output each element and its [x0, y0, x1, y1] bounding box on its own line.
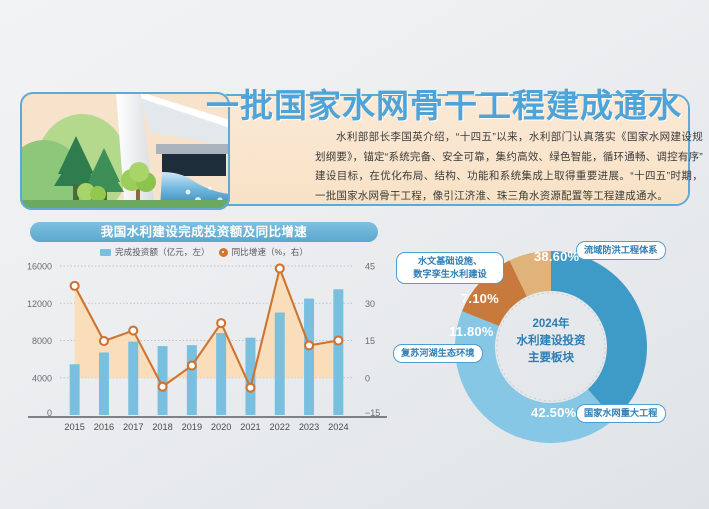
svg-text:0: 0 — [47, 408, 52, 418]
x-tick-2019: 2019 — [182, 422, 202, 432]
point-2017 — [129, 327, 137, 335]
donut-label-national-water-network[interactable]: 国家水网重大工程 — [576, 404, 666, 423]
svg-text:12000: 12000 — [27, 299, 52, 309]
legend-square-icon — [100, 249, 111, 256]
point-2019 — [188, 362, 196, 370]
svg-text:4000: 4000 — [32, 373, 52, 383]
legend-circle-icon — [219, 248, 228, 257]
x-tick-2017: 2017 — [123, 422, 143, 432]
investment-combo-chart: 我国水利建设完成投资额及同比增速 完成投资额（亿元，左） 同比增速（%，右） 0… — [8, 218, 393, 443]
bar-2016 — [99, 352, 109, 415]
donut-label-river-lake-ecology[interactable]: 复苏河湖生态环境 — [393, 344, 483, 363]
point-2018 — [159, 383, 167, 391]
svg-text:0: 0 — [365, 373, 370, 383]
point-2023 — [305, 341, 313, 349]
bar-2020 — [216, 333, 226, 415]
point-2015 — [71, 282, 79, 290]
point-2016 — [100, 337, 108, 345]
x-tick-2018: 2018 — [152, 422, 172, 432]
infographic-root: 一批国家水网骨干工程建成通水 水利部部长李国英介绍，“十四五”以来，水利部门认真… — [0, 0, 709, 509]
bar-2024 — [333, 289, 343, 415]
donut-center-label: 2024年 水利建设投资 主要板块 — [498, 288, 604, 394]
donut-pct-national-water-network: 42.50% — [531, 405, 576, 420]
legend-item-line: 同比增速（%，右） — [219, 246, 308, 258]
legend-item-bars: 完成投资额（亿元，左） — [100, 246, 210, 258]
svg-text:16000: 16000 — [27, 262, 52, 272]
svg-text:−15: −15 — [365, 408, 380, 418]
x-tick-2023: 2023 — [299, 422, 319, 432]
chart-plot-area: 0400080001200016000−15015304520152016201… — [8, 258, 393, 443]
donut-center-line-2: 水利建设投资 — [517, 333, 586, 350]
donut-pct-river-lake-ecology: 11.80% — [449, 324, 494, 339]
point-2021 — [246, 384, 254, 392]
donut-label-flood-control[interactable]: 流域防洪工程体系 — [576, 241, 666, 260]
bar-2017 — [128, 342, 138, 415]
chart-title: 我国水利建设完成投资额及同比增速 — [30, 222, 378, 242]
svg-text:30: 30 — [365, 299, 375, 309]
donut-center-line-1: 2024年 — [532, 316, 569, 333]
point-2022 — [276, 264, 284, 272]
hero-section: 一批国家水网骨干工程建成通水 水利部部长李国英介绍，“十四五”以来，水利部门认真… — [20, 92, 690, 214]
svg-text:8000: 8000 — [32, 336, 52, 346]
chart-svg: 0400080001200016000−15015304520152016201… — [8, 258, 393, 443]
x-tick-2020: 2020 — [211, 422, 231, 432]
point-2020 — [217, 319, 225, 327]
x-tick-2022: 2022 — [270, 422, 290, 432]
point-2024 — [334, 337, 342, 345]
svg-text:15: 15 — [365, 336, 375, 346]
legend-label-bars: 完成投资额（亿元，左） — [115, 246, 210, 258]
x-tick-2016: 2016 — [94, 422, 114, 432]
x-tick-2015: 2015 — [64, 422, 84, 432]
hero-paragraph: 水利部部长李国英介绍，“十四五”以来，水利部门认真落实《国家水网建设规划纲要》，… — [315, 128, 703, 206]
bar-2022 — [275, 313, 285, 415]
bar-2015 — [70, 364, 80, 415]
svg-text:45: 45 — [365, 262, 375, 272]
donut-center-line-3: 主要板块 — [528, 350, 574, 367]
donut-label-hydrology-digital-twin[interactable]: 水文基础设施、数字孪生水利建设 — [396, 252, 504, 284]
bar-2023 — [304, 299, 314, 415]
x-tick-2021: 2021 — [240, 422, 260, 432]
donut-pct-hydrology-digital-twin: 7.10% — [461, 291, 499, 306]
donut-pct-flood-control: 38.60% — [534, 249, 579, 264]
legend-label-line: 同比增速（%，右） — [232, 246, 308, 258]
page-title: 一批国家水网骨干工程建成通水 — [206, 86, 682, 126]
x-tick-2024: 2024 — [328, 422, 348, 432]
bar-2019 — [187, 345, 197, 415]
hero-paragraph-text: 水利部部长李国英介绍，“十四五”以来，水利部门认真落实《国家水网建设规划纲要》，… — [315, 128, 703, 206]
